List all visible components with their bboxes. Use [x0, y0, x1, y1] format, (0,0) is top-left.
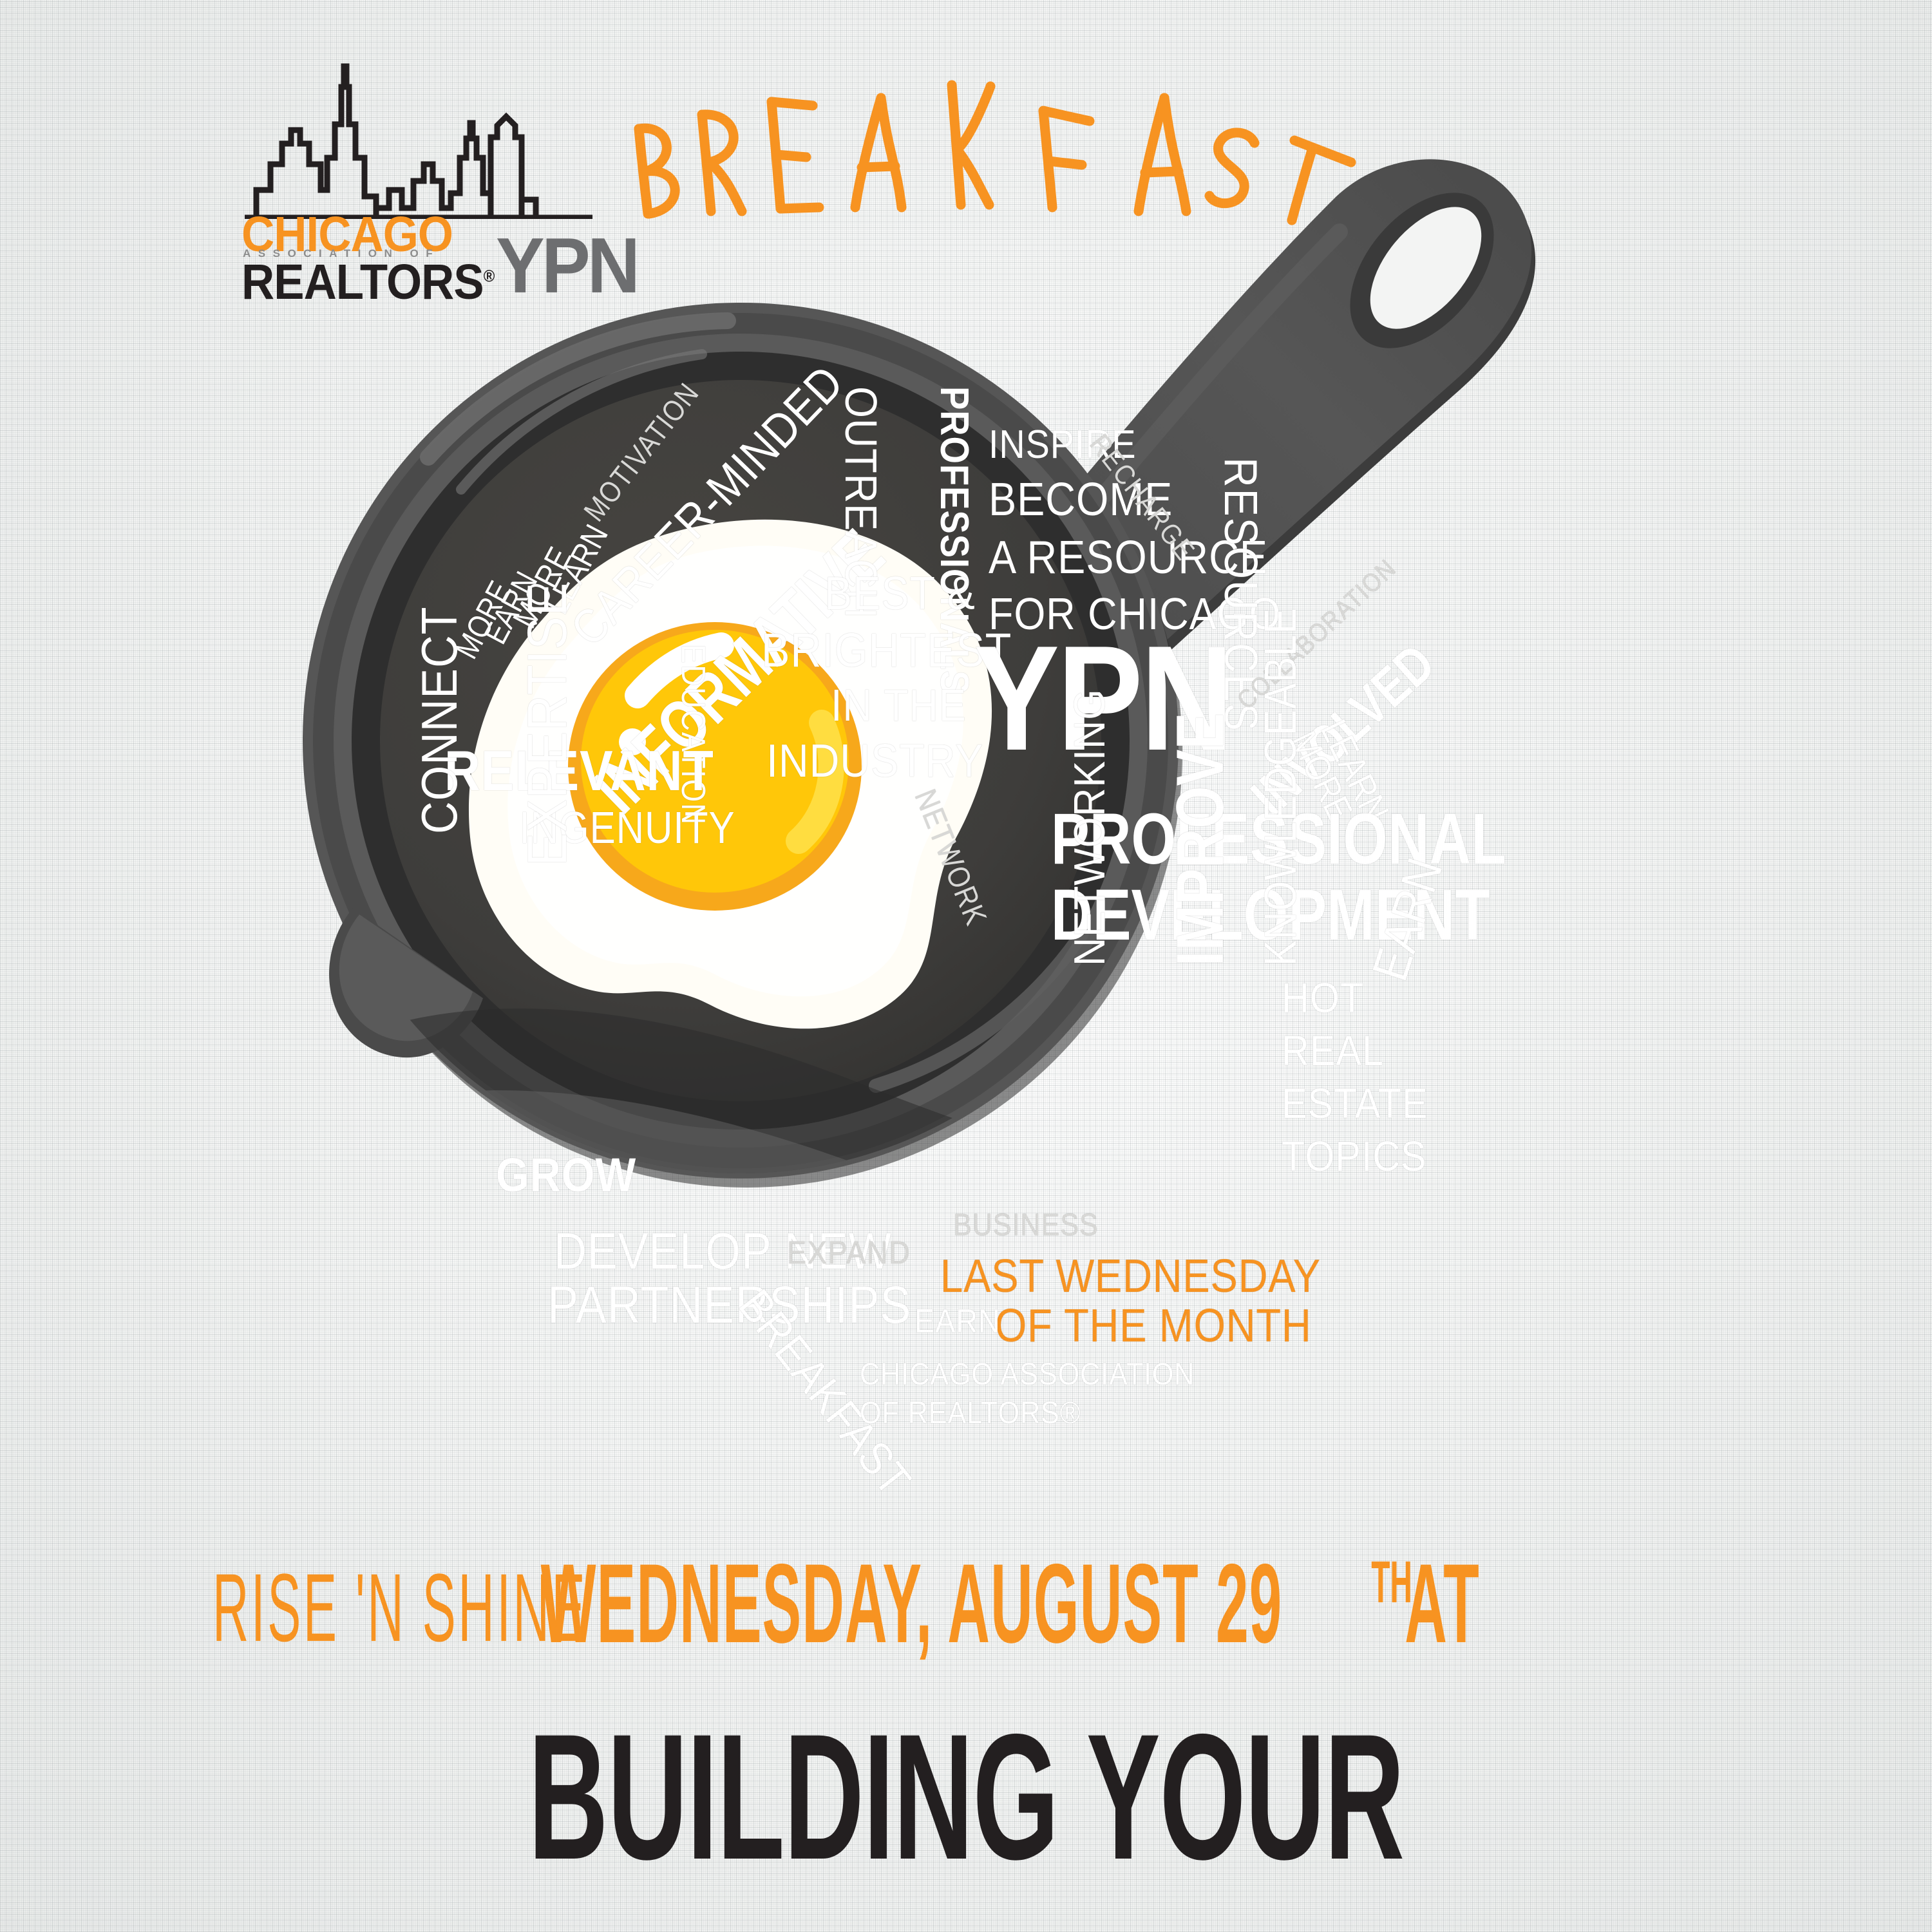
rise-part1: RISE 'N SHINE: [213, 1555, 587, 1662]
page-title: BUILDING YOUR TEAM: [0, 1694, 1932, 1932]
rise-n-shine-text: RISE 'N SHINE WEDNESDAY, AUGUST 29 TH AT: [213, 1546, 1501, 1674]
rise-part2: WEDNESDAY, AUGUST 29: [541, 1546, 1283, 1667]
headline-text: BUILDING YOUR TEAM: [367, 1694, 1565, 1932]
poster-canvas: CHICAGO ASSOCIATION OF REALTORS® YPN: [0, 0, 1932, 1932]
event-date-line: RISE 'N SHINE WEDNESDAY, AUGUST 29 TH AT…: [0, 1546, 1932, 1681]
frying-pan-icon: [277, 77, 1694, 1462]
rise-part3: AT: [1405, 1546, 1480, 1667]
